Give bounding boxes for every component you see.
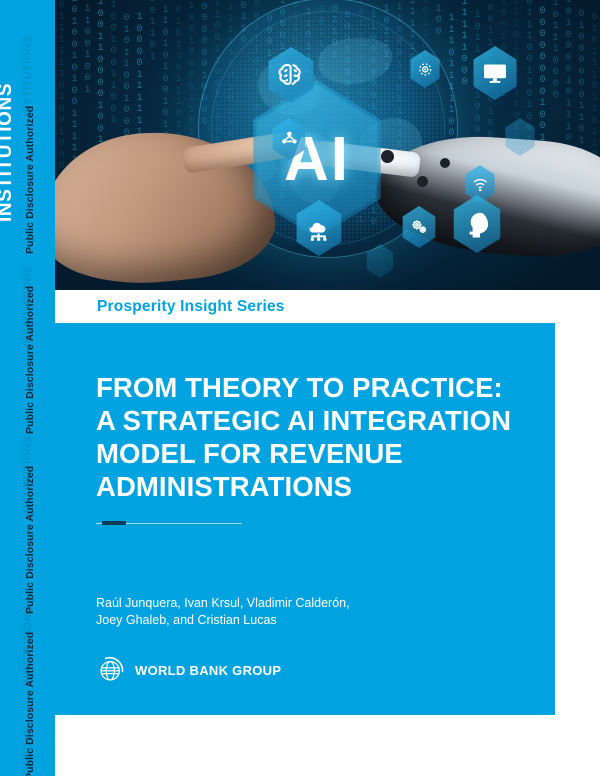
public-disclosure-label: Public Disclosure Authorized <box>24 632 36 776</box>
robot-knuckle-joint <box>440 158 450 168</box>
spine-watermark: INSTITUTIONS <box>22 35 34 116</box>
binary-column: 0 1 0 0 0 0 0 0 1 1 0 1 1 <box>575 9 588 159</box>
page-title-line: ADMINISTRATIONS <box>96 470 532 503</box>
binary-column: 0 0 0 0 1 1 0 1 <box>146 0 159 63</box>
binary-column: 1 0 1 1 0 0 1 0 0 1 <box>81 0 94 96</box>
public-disclosure-label: Public Disclosure Authorized <box>24 286 36 434</box>
binary-column: 0 1 0 1 1 1 0 1 1 0 1 1 0 1 <box>588 12 600 173</box>
binary-column: 0 0 0 0 0 0 0 0 1 0 0 1 <box>536 6 549 144</box>
series-banner-label: Prosperity Insight Series <box>55 298 285 316</box>
robot-knuckle-joint <box>417 176 428 187</box>
series-banner: Prosperity Insight Series <box>55 290 555 323</box>
authors-list: Raúl Junquera, Ivan Krsul, Vladimir Cald… <box>96 595 516 629</box>
binary-column: 0 1 1 0 0 1 0 0 1 1 0 0 1 <box>107 0 120 127</box>
page-title-line: FROM THEORY TO PRACTICE: <box>96 371 532 404</box>
page-title: FROM THEORY TO PRACTICE:A STRATEGIC AI I… <box>96 371 532 503</box>
page-title-line: A STRATEGIC AI INTEGRATION <box>96 404 532 437</box>
public-disclosure-spine: INSTITUTIONSINSTITUTIONSINSTITUTIONSINST… <box>0 0 55 776</box>
publisher-name: WORLD BANK GROUP <box>135 663 281 678</box>
publisher-logo: WORLD BANK GROUP <box>96 655 281 685</box>
institutions-series-label: INSTITUTIONS <box>0 83 17 222</box>
cover-page: INSTITUTIONSINSTITUTIONSINSTITUTIONSINST… <box>0 0 600 776</box>
binary-column: 0 0 0 1 0 0 <box>432 0 445 38</box>
binary-column: 1 0 0 1 1 1 1 1 0 0 0 <box>458 0 471 89</box>
binary-column: 1 0 1 1 1 0 0 0 0 <box>549 0 562 102</box>
page-title-line: MODEL FOR REVENUE <box>96 437 532 470</box>
cover-hero-image: 0 1 1 1 1 1 1 0 1 0 0 1 0 0 0 1 1 0 1 0 … <box>55 0 600 290</box>
binary-column: 0 1 1 1 1 1 1 0 1 0 0 1 0 0 0 <box>55 0 68 173</box>
author-line: Raúl Junquera, Ivan Krsul, Vladimir Cald… <box>96 595 516 612</box>
divider-dark-segment <box>102 521 126 525</box>
public-disclosure-label: Public Disclosure Authorized <box>24 106 36 254</box>
author-line: Joey Ghaleb, and Cristian Lucas <box>96 612 516 629</box>
public-disclosure-label: Public Disclosure Authorized <box>24 466 36 614</box>
world-bank-globe-icon <box>96 655 126 685</box>
cover-title-panel: FROM THEORY TO PRACTICE:A STRATEGIC AI I… <box>55 323 555 715</box>
title-divider <box>96 521 296 525</box>
